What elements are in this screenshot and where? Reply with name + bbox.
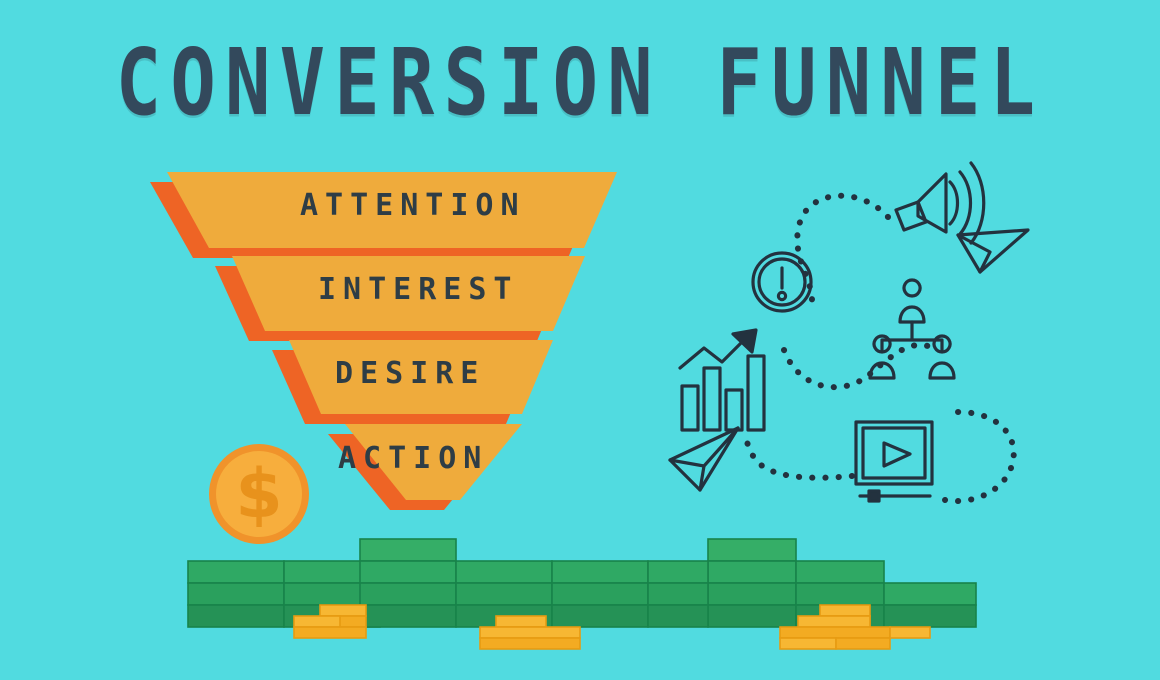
growth-chart-icon[interactable]: [680, 330, 764, 430]
funnel-stage-label-attention: ATTENTION: [300, 188, 526, 223]
megaphone-icon[interactable]: [896, 163, 984, 243]
money-stacks: [0, 430, 1160, 680]
user-network-icon[interactable]: [870, 280, 954, 378]
money-bundle: [884, 583, 976, 627]
paper-plane-icon-top[interactable]: [958, 230, 1028, 272]
money-bundle: [648, 561, 708, 627]
dotted-path-upper: [797, 196, 888, 310]
money-bundle: [360, 539, 456, 627]
money-bundle: [188, 561, 284, 627]
funnel-stage-label-desire: DESIRE: [335, 356, 485, 391]
alert-circle-icon[interactable]: [753, 253, 811, 311]
funnel-stage-label-interest: INTEREST: [318, 272, 519, 307]
dotted-path-middle: [784, 345, 928, 387]
money-bundle: [552, 561, 648, 627]
money-bundle: [708, 539, 796, 627]
infographic-canvas: CONVERSION FUNNEL ATTENTION INTEREST DES…: [0, 0, 1160, 680]
